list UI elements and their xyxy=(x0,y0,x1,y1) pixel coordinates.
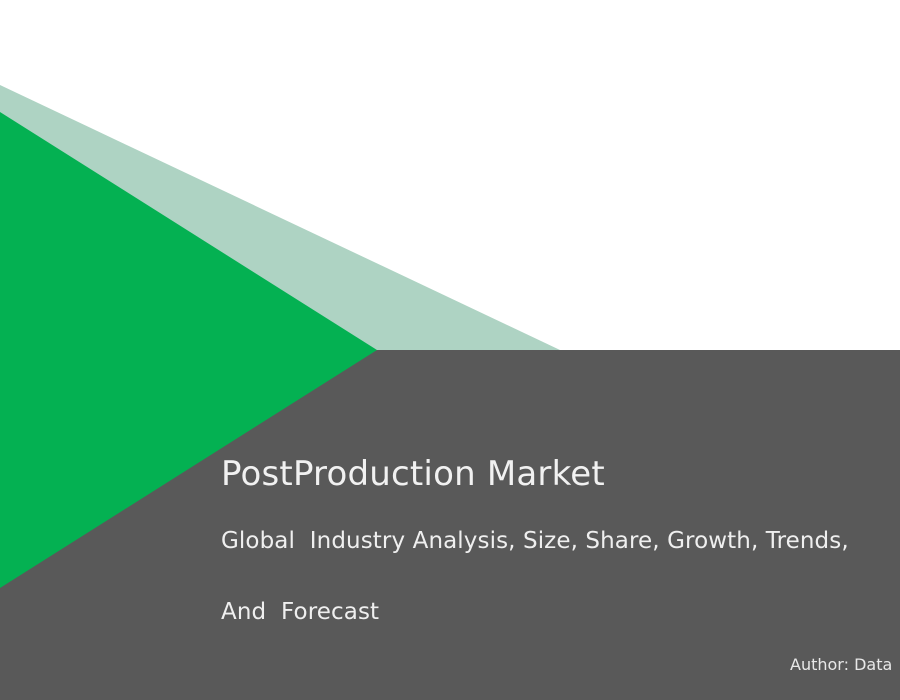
cover-text-block: PostProduction Market Global Industry An… xyxy=(221,452,900,638)
cover-subtitle-line-1: Global Industry Analysis, Size, Share, G… xyxy=(221,496,900,567)
author-label: Author: Data xyxy=(790,654,892,676)
page-title: PostProduction Market xyxy=(221,452,900,496)
green-diagonal-wedge-upper xyxy=(0,112,377,350)
report-cover-page: PostProduction Market Global Industry An… xyxy=(0,0,900,700)
sage-diagonal-band xyxy=(0,85,560,350)
cover-subtitle-line-2: And Forecast xyxy=(221,567,900,638)
